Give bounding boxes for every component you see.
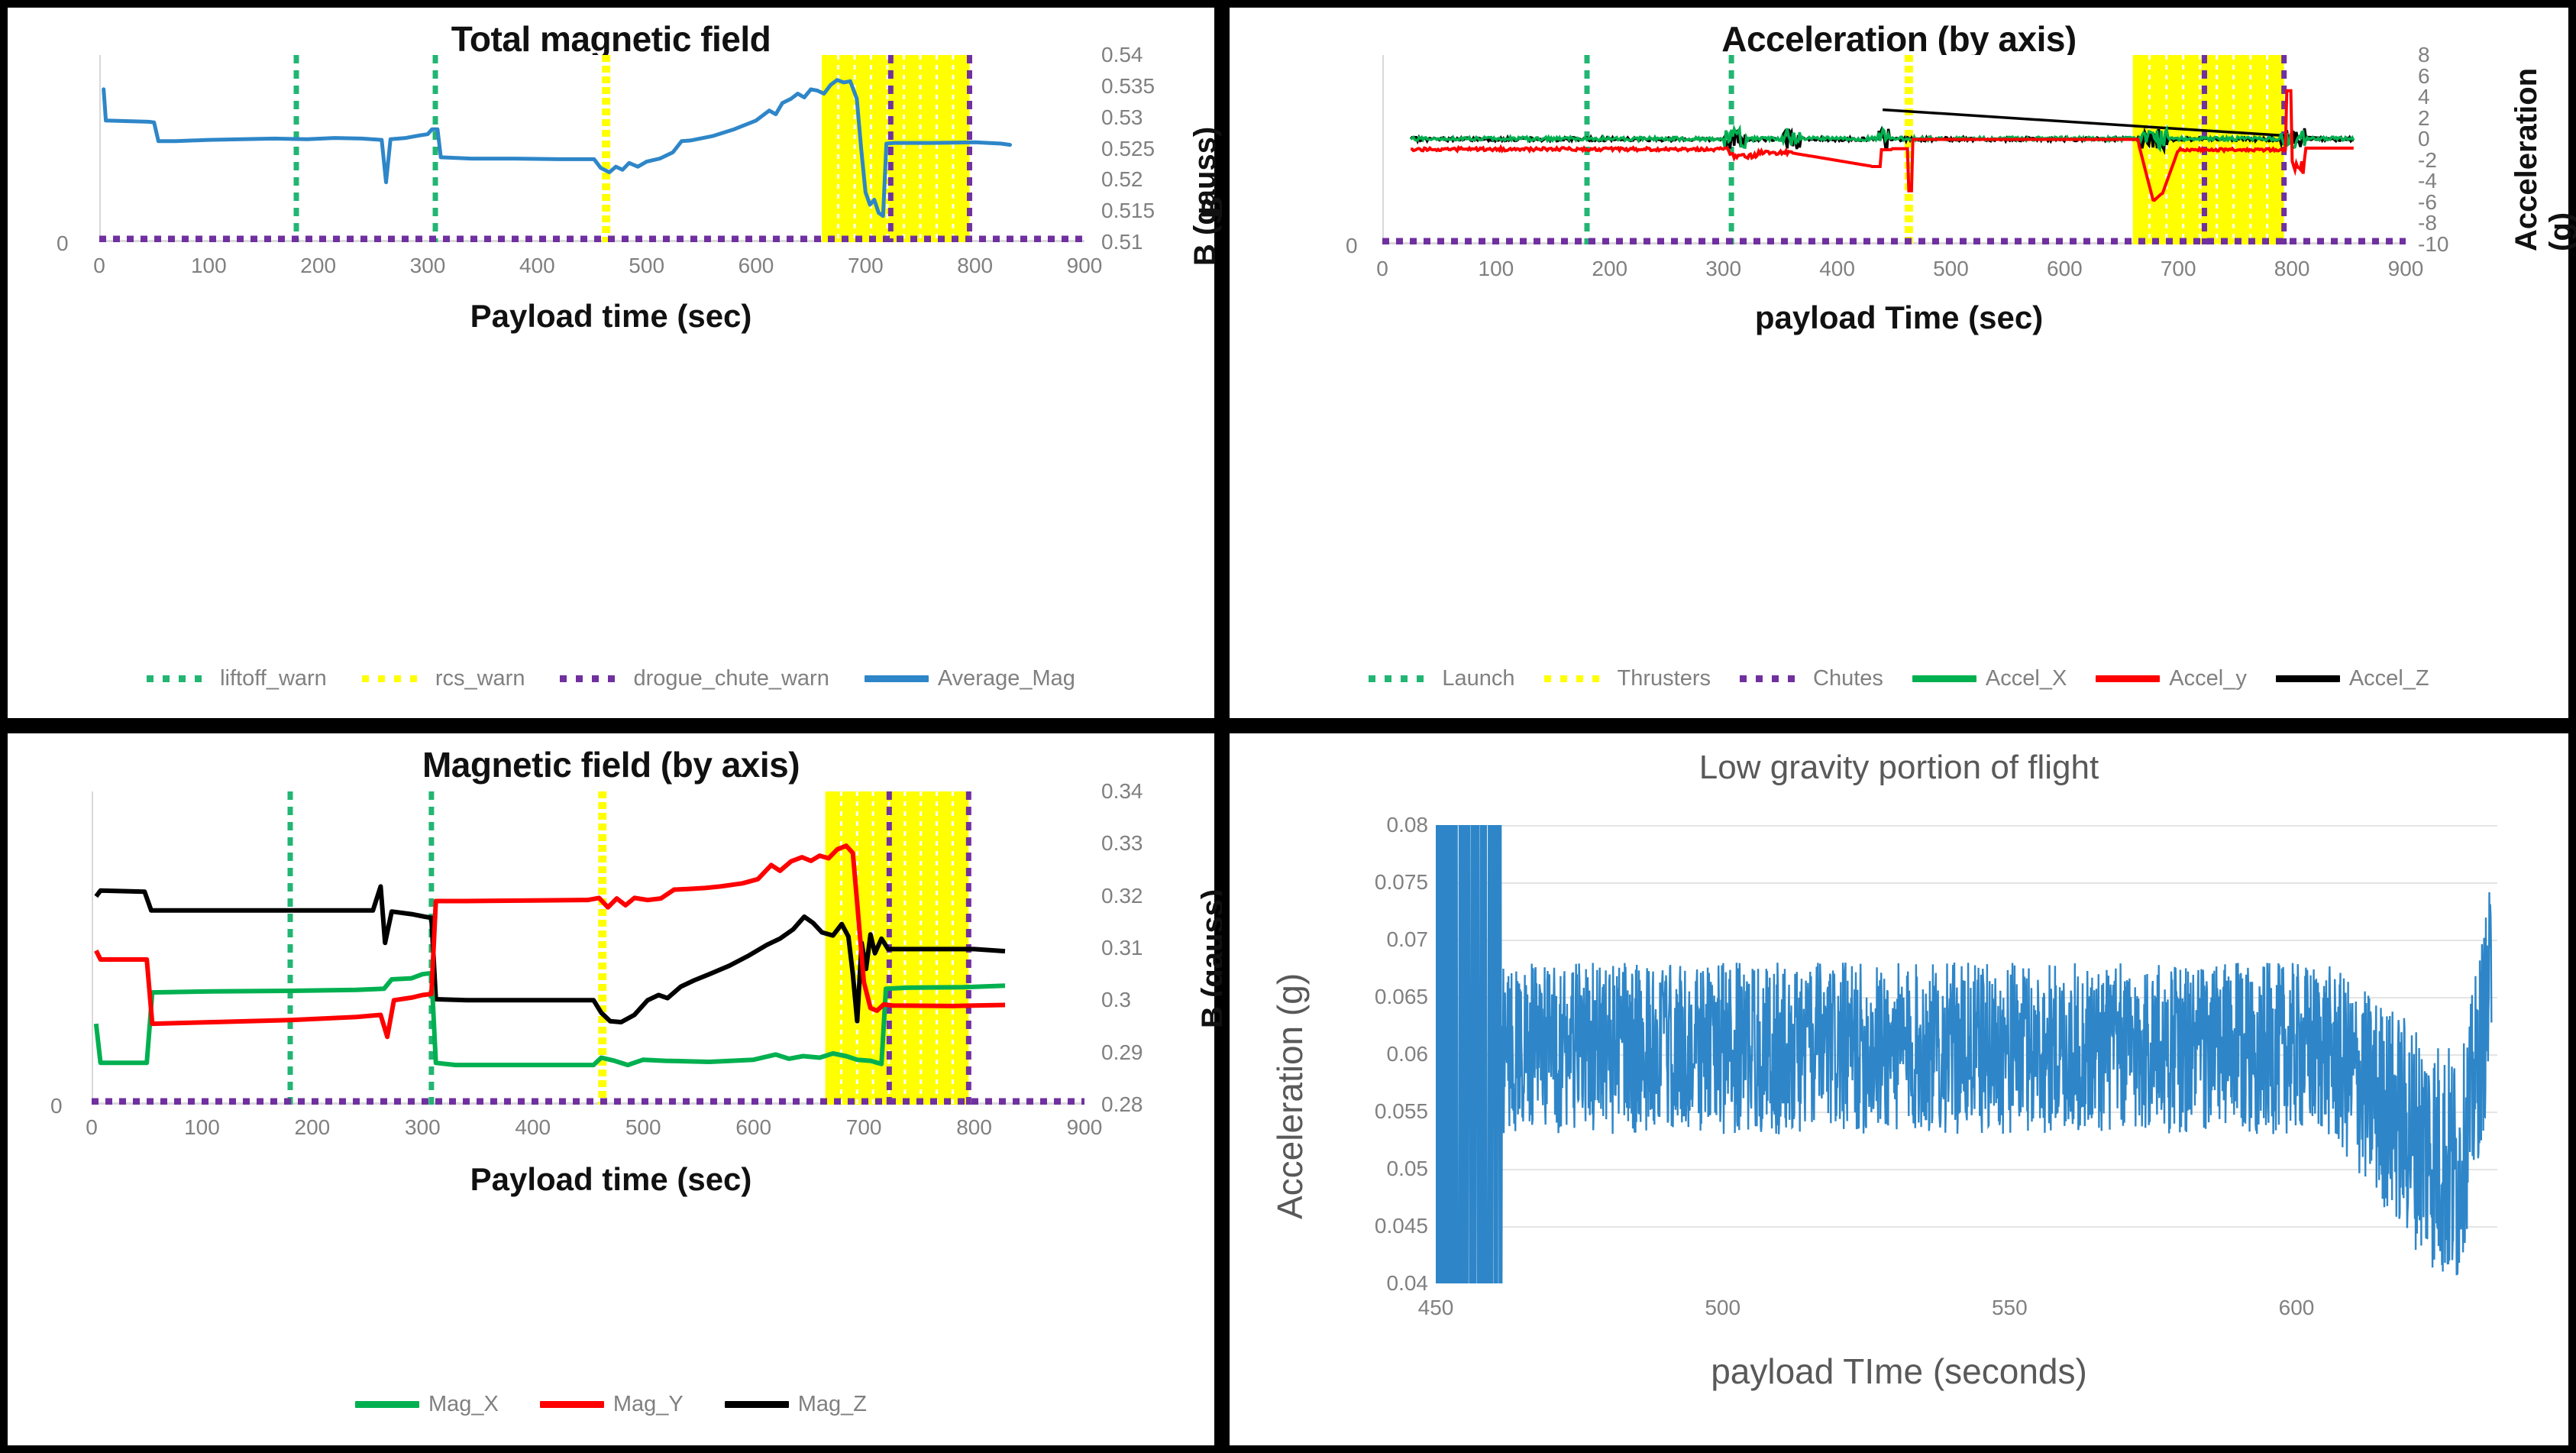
- panel-low-gravity-portion-of-flight: Low gravity portion of flight 0.040.0450…: [1222, 726, 2576, 1453]
- y-axis-zero-label-left: 0: [1346, 234, 1358, 258]
- y-tick-label: 0.3: [1101, 988, 1131, 1012]
- y-tick-label: 0.31: [1101, 936, 1143, 960]
- legend-item: Accel_y: [2096, 666, 2247, 691]
- y-tick-label: 0: [2418, 127, 2430, 151]
- panel-total-magnetic-field: Total magnetic field 0.510.5150.520.5250…: [0, 0, 1222, 726]
- legend-label: Accel_X: [1986, 666, 2067, 691]
- x-axis-title-low-gravity: payload TIme (seconds): [1230, 1351, 2568, 1392]
- x-tick-label: 500: [1705, 1296, 1740, 1320]
- legend-label: Chutes: [1813, 666, 1883, 691]
- chart-title-magnetic-field-by-axis: Magnetic field (by axis): [8, 744, 1214, 785]
- y-tick-label: 0.33: [1101, 831, 1143, 856]
- x-tick-label: 550: [1992, 1296, 2028, 1320]
- y-axis-ticks-acceleration-by-axis: -10-8-6-4-202468: [2418, 55, 2502, 244]
- x-tick-label: 600: [739, 254, 774, 278]
- x-axis-title-magnetic-field-by-axis: Payload time (sec): [8, 1161, 1214, 1198]
- legend-item: Mag_X: [355, 1392, 499, 1417]
- legend-swatch-dotted: [1544, 675, 1608, 682]
- x-tick-label: 600: [735, 1115, 771, 1140]
- series-acceleration: [1436, 825, 2491, 1283]
- legend-swatch-solid: [1912, 675, 1976, 682]
- x-tick-label: 400: [519, 254, 555, 278]
- y-tick-label: -2: [2418, 148, 2437, 173]
- chart-title-low-gravity-portion-of-flight: Low gravity portion of flight: [1230, 749, 2568, 787]
- x-tick-label: 300: [1705, 257, 1741, 281]
- legend-item: Chutes: [1740, 666, 1883, 691]
- legend-label: Launch: [1442, 666, 1514, 691]
- x-tick-label: 200: [1592, 257, 1627, 281]
- legend-label: liftoff_warn: [220, 666, 327, 691]
- legend-label: drogue_chute_warn: [633, 666, 829, 691]
- x-axis-ticks-total-magnetic-field: 0100200300400500600700800900: [99, 254, 1084, 284]
- x-tick-label: 700: [846, 1115, 882, 1140]
- x-tick-label: 0: [86, 1115, 98, 1140]
- legend-label: Thrusters: [1618, 666, 1711, 691]
- x-tick-label: 300: [405, 1115, 441, 1140]
- x-tick-label: 200: [300, 254, 336, 278]
- y-tick-label: 0.04: [1387, 1271, 1429, 1296]
- series-canvas-total-magnetic-field: [99, 55, 1084, 242]
- x-tick-label: 700: [2161, 257, 2196, 281]
- panel-magnetic-field-by-axis: Magnetic field (by axis) 0.280.290.30.31…: [0, 726, 1222, 1453]
- panel-acceleration-by-axis: Acceleration (by axis) -10-8-6-4-202468 …: [1222, 0, 2576, 726]
- y-axis-zero-label-left: 0: [57, 231, 69, 256]
- x-tick-label: 100: [1479, 257, 1514, 281]
- x-tick-label: 200: [295, 1115, 331, 1140]
- y-tick-label: -6: [2418, 190, 2437, 215]
- plot-area-total-magnetic-field: [99, 55, 1084, 242]
- legend-item: liftoff_warn: [147, 666, 327, 691]
- x-axis-ticks-low-gravity: 450500550600: [1436, 1296, 2497, 1326]
- y-axis-zero-label-left: 0: [50, 1094, 63, 1118]
- y-tick-label: 0.32: [1101, 884, 1143, 908]
- y-tick-label: 0.07: [1387, 927, 1429, 952]
- x-tick-label: 100: [191, 254, 227, 278]
- legend-swatch-solid: [355, 1401, 419, 1408]
- y-tick-label: 0.05: [1387, 1157, 1429, 1181]
- legend-total-magnetic-field: liftoff_warnrcs_warndrogue_chute_warnAve…: [8, 666, 1214, 691]
- legend-item: Launch: [1369, 666, 1514, 691]
- y-tick-label: -10: [2418, 232, 2448, 257]
- y-tick-label: 0.29: [1101, 1040, 1143, 1065]
- legend-label: Average_Mag: [938, 666, 1075, 691]
- legend-swatch-solid: [540, 1401, 604, 1408]
- legend-label: Mag_X: [428, 1392, 499, 1417]
- chart-title-total-magnetic-field: Total magnetic field: [8, 18, 1214, 60]
- legend-swatch-dotted: [147, 675, 211, 682]
- y-tick-label: -8: [2418, 211, 2437, 235]
- series-canvas-magnetic-field-by-axis: [92, 791, 1084, 1105]
- x-tick-label: 0: [93, 254, 105, 278]
- x-tick-label: 0: [1376, 257, 1388, 281]
- legend-swatch-dotted: [362, 675, 426, 682]
- x-axis-ticks-magnetic-field-by-axis: 0100200300400500600700800900: [92, 1115, 1084, 1146]
- y-tick-label: 0.045: [1375, 1214, 1428, 1238]
- y-tick-label: 0.075: [1375, 870, 1428, 895]
- plot-area-acceleration-by-axis: [1382, 55, 2406, 244]
- y-tick-label: 0.54: [1101, 43, 1143, 67]
- x-tick-label: 500: [1933, 257, 1969, 281]
- y-tick-label: 0.08: [1387, 813, 1429, 837]
- legend-swatch-dotted: [560, 675, 624, 682]
- legend-item: Mag_Y: [540, 1392, 684, 1417]
- series-canvas-low-gravity: [1436, 825, 2497, 1283]
- x-tick-label: 900: [2388, 257, 2424, 281]
- y-tick-label: 0.515: [1101, 199, 1155, 223]
- legend-item: Accel_X: [1912, 666, 2067, 691]
- legend-label: rcs_warn: [435, 666, 525, 691]
- y-tick-label: 4: [2418, 85, 2430, 109]
- y-axis-title-acceleration-by-axis: Acceleration (g): [2510, 64, 2576, 251]
- y-axis-title-total-magnetic-field-overflow: B (gauss): [1188, 121, 1223, 266]
- legend-swatch-dotted: [1369, 675, 1433, 682]
- x-tick-label: 600: [2279, 1296, 2315, 1320]
- x-tick-label: 100: [184, 1115, 220, 1140]
- plot-area-magnetic-field-by-axis: [92, 791, 1084, 1105]
- legend-item: Mag_Z: [725, 1392, 867, 1417]
- x-tick-label: 800: [956, 1115, 992, 1140]
- y-tick-label: 0.53: [1101, 105, 1143, 130]
- y-tick-label: 0.34: [1101, 779, 1143, 804]
- y-tick-label: 0.51: [1101, 230, 1143, 254]
- x-tick-label: 300: [410, 254, 446, 278]
- legend-swatch-solid: [2276, 675, 2340, 682]
- x-tick-label: 450: [1418, 1296, 1454, 1320]
- y-tick-label: 0.535: [1101, 74, 1155, 99]
- y-axis-title-low-gravity: Acceleration (g): [1269, 891, 1311, 1219]
- x-axis-title-acceleration-by-axis: payload Time (sec): [1230, 299, 2568, 336]
- legend-swatch-solid: [2096, 675, 2160, 682]
- y-tick-label: 6: [2418, 64, 2430, 89]
- y-tick-label: 0.06: [1387, 1042, 1429, 1066]
- y-tick-label: 8: [2418, 43, 2430, 67]
- legend-swatch-dotted: [1740, 675, 1804, 682]
- x-tick-label: 800: [2274, 257, 2310, 281]
- x-tick-label: 900: [1067, 254, 1103, 278]
- series-canvas-acceleration-by-axis: [1382, 55, 2406, 244]
- plot-area-low-gravity-portion-of-flight: [1436, 825, 2497, 1283]
- legend-item: Accel_Z: [2276, 666, 2429, 691]
- y-tick-label: 0.065: [1375, 985, 1428, 1009]
- x-axis-ticks-acceleration-by-axis: 0100200300400500600700800900: [1382, 257, 2406, 287]
- legend-item: drogue_chute_warn: [560, 666, 829, 691]
- x-tick-label: 700: [848, 254, 884, 278]
- y-tick-label: 0.525: [1101, 137, 1155, 161]
- legend-label: Mag_Z: [798, 1392, 867, 1417]
- x-tick-label: 900: [1067, 1115, 1103, 1140]
- y-axis-ticks-low-gravity: 0.040.0450.050.0550.060.0650.070.0750.08: [1314, 825, 1428, 1283]
- x-tick-label: 400: [1819, 257, 1855, 281]
- y-tick-label: -4: [2418, 169, 2437, 193]
- legend-magnetic-field-by-axis: Mag_XMag_YMag_Z: [8, 1392, 1214, 1417]
- legend-label: Accel_Z: [2349, 666, 2429, 691]
- legend-item: Average_Mag: [865, 666, 1075, 691]
- x-tick-label: 500: [629, 254, 664, 278]
- x-tick-label: 400: [515, 1115, 551, 1140]
- y-tick-label: 2: [2418, 106, 2430, 131]
- legend-label: Accel_y: [2169, 666, 2247, 691]
- y-tick-label: 0.52: [1101, 167, 1143, 192]
- figure-root: Total magnetic field 0.510.5150.520.5250…: [0, 0, 2576, 1453]
- legend-acceleration-by-axis: LaunchThrustersChutesAccel_XAccel_yAccel…: [1230, 666, 2568, 691]
- chart-title-acceleration-by-axis: Acceleration (by axis): [1230, 18, 2568, 60]
- legend-item: rcs_warn: [362, 666, 525, 691]
- legend-swatch-solid: [865, 675, 929, 682]
- x-axis-title-total-magnetic-field: Payload time (sec): [8, 298, 1214, 335]
- y-tick-label: 0.28: [1101, 1092, 1143, 1117]
- y-tick-label: 0.055: [1375, 1099, 1428, 1124]
- legend-item: Thrusters: [1544, 666, 1711, 691]
- x-tick-label: 500: [625, 1115, 661, 1140]
- legend-swatch-solid: [725, 1401, 789, 1408]
- x-tick-label: 800: [957, 254, 993, 278]
- legend-label: Mag_Y: [613, 1392, 684, 1417]
- x-tick-label: 600: [2047, 257, 2083, 281]
